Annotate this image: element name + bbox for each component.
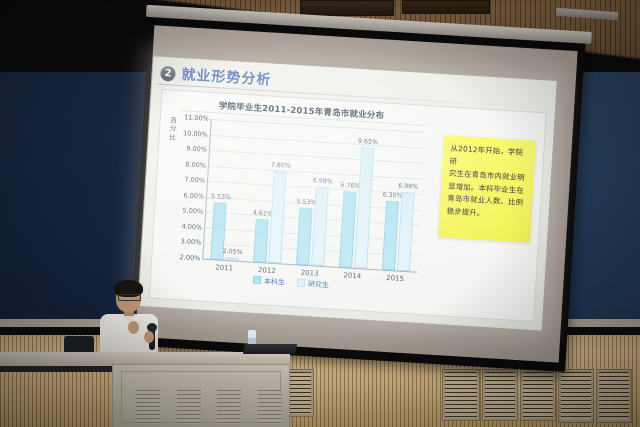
presenter-hand-right	[144, 331, 154, 343]
yellow-callout-box: 从2012年开始，学院研 究生在青岛市内就业明 显增加。本科毕业生在 青岛市就业…	[438, 135, 536, 242]
chart-bar-value-label: 6.76%	[340, 182, 360, 190]
wall-vent	[596, 369, 632, 423]
y-axis-tick: 6.00%	[183, 191, 204, 200]
ceiling-fixture	[300, 0, 394, 16]
y-axis-tick: 4.00%	[181, 222, 202, 231]
chart-plot-area: 11.00%10.00%9.00%8.00%7.00%6.00%5.00%4.0…	[202, 119, 425, 273]
chart-bar-value-label: 4.61%	[253, 210, 273, 218]
chart-bar: 2.05%	[226, 257, 239, 261]
y-axis-label-char2: 分	[168, 125, 178, 134]
chart-bar-value-label: 9.65%	[358, 138, 378, 146]
presenter-hand-left	[128, 321, 139, 334]
chart-bar: 6.98%	[396, 191, 414, 271]
chart-legend: 本科生 研究生	[157, 270, 425, 296]
x-axis-tick: 2015	[386, 274, 404, 283]
podium-vent	[217, 390, 241, 424]
x-axis-tick: 2011	[215, 263, 233, 272]
section-number-badge: 2	[160, 65, 176, 81]
x-axis-tick: 2014	[343, 271, 361, 280]
chart-bar: 9.65%	[354, 147, 374, 269]
podium-vent	[136, 390, 160, 424]
x-axis-tick: 2012	[258, 266, 276, 275]
chart-bar: 6.98%	[311, 186, 329, 266]
legend-label-undergrad: 本科生	[264, 277, 285, 286]
podium-panel	[121, 371, 281, 423]
y-axis-tick: 2.00%	[179, 253, 200, 262]
chart-bar: 4.61%	[253, 219, 269, 262]
slide-content-box: 学院毕业生2011-2015年青岛市就业分布 百 分 比 11.00%10.00…	[149, 89, 547, 322]
chart-bar-value-label: 7.80%	[271, 161, 291, 169]
presentation-slide: 2 就业形势分析 学院毕业生2011-2015年青岛市就业分布 百 分 比 11…	[138, 56, 557, 330]
podium-vent-group	[136, 390, 282, 424]
legend-label-grad: 研究生	[308, 280, 329, 289]
chart-bar: 7.80%	[268, 171, 287, 264]
legend-item-grad: 研究生	[297, 278, 330, 290]
y-axis-tick: 9.00%	[186, 145, 207, 154]
y-axis-label-char3: 比	[167, 133, 177, 142]
chart-bar-value-label: 5.53%	[211, 193, 231, 201]
chart-gridline	[211, 134, 425, 148]
chart-bar-value-label: 5.53%	[296, 198, 316, 206]
glasses-icon	[118, 294, 141, 301]
employment-bar-chart: 学院毕业生2011-2015年青岛市就业分布 百 分 比 11.00%10.00…	[156, 94, 435, 306]
chart-bar-value-label: 6.98%	[313, 177, 333, 185]
chart-bar-group: 6.30%6.98%	[374, 190, 422, 272]
chart-bar-group: 6.76%9.65%	[331, 146, 381, 269]
podium	[112, 364, 290, 427]
chart-bar-group: 5.53%2.05%	[203, 202, 249, 261]
wall-vent	[520, 369, 556, 421]
laptop	[243, 344, 297, 354]
legend-swatch-undergrad	[253, 276, 261, 284]
podium-vent	[177, 390, 201, 424]
wall-vent	[558, 369, 594, 423]
y-axis-tick: 7.00%	[184, 176, 205, 185]
podium-vent	[258, 390, 282, 424]
x-axis-tick: 2013	[300, 269, 318, 278]
y-axis-tick: 8.00%	[185, 160, 206, 169]
y-axis-label: 百 分 比	[167, 116, 179, 142]
chart-bar-group: 4.61%7.80%	[246, 169, 294, 264]
chart-bar-value-label: 6.30%	[382, 192, 402, 200]
chart-bar: 5.53%	[296, 208, 312, 266]
wall-vent	[482, 369, 518, 421]
y-axis-tick: 10.00%	[183, 129, 208, 138]
chart-bar-group: 5.53%6.98%	[289, 185, 337, 267]
y-axis-tick: 5.00%	[182, 207, 203, 216]
legend-swatch-grad	[297, 278, 305, 286]
chart-bar-value-label: 6.98%	[398, 182, 418, 190]
chart-gridline	[210, 150, 424, 164]
y-axis-tick: 11.00%	[184, 113, 209, 122]
legend-item-undergrad: 本科生	[253, 276, 286, 288]
wall-vent	[442, 369, 480, 421]
y-axis-tick: 3.00%	[180, 238, 201, 247]
ceiling-fixture	[402, 0, 490, 14]
lecture-hall-scene: 2 就业形势分析 学院毕业生2011-2015年青岛市就业分布 百 分 比 11…	[0, 0, 640, 427]
chart-bar-value-label: 2.05%	[222, 248, 242, 256]
projection-screen: 2 就业形势分析 学院毕业生2011-2015年青岛市就业分布 百 分 比 11…	[130, 16, 585, 372]
